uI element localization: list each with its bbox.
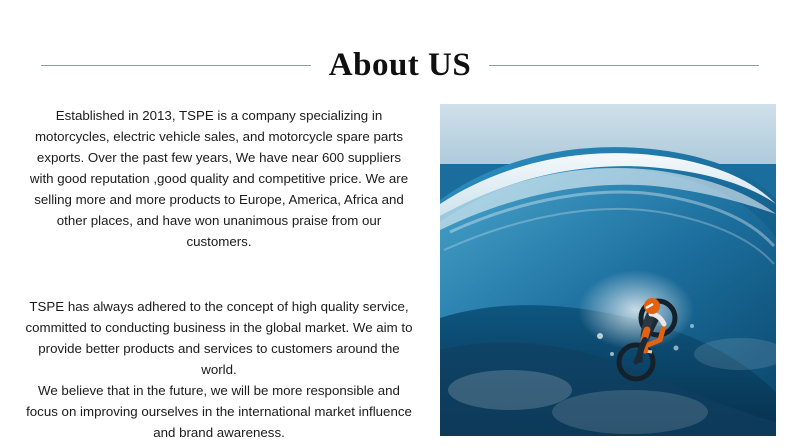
header-divider-left xyxy=(41,65,311,66)
page-title: About US xyxy=(329,49,471,82)
about-paragraph-1: Established in 2013, TSPE is a company s… xyxy=(24,105,414,252)
about-us-page: About US Established in 2013, TSPE is a … xyxy=(0,0,800,448)
header-divider-right xyxy=(489,65,759,66)
wave-rider-illustration xyxy=(440,104,776,436)
about-text-column: Established in 2013, TSPE is a company s… xyxy=(24,105,414,443)
about-photo xyxy=(440,104,776,436)
page-header: About US xyxy=(0,42,800,88)
about-paragraph-2: TSPE has always adhered to the concept o… xyxy=(24,296,414,443)
